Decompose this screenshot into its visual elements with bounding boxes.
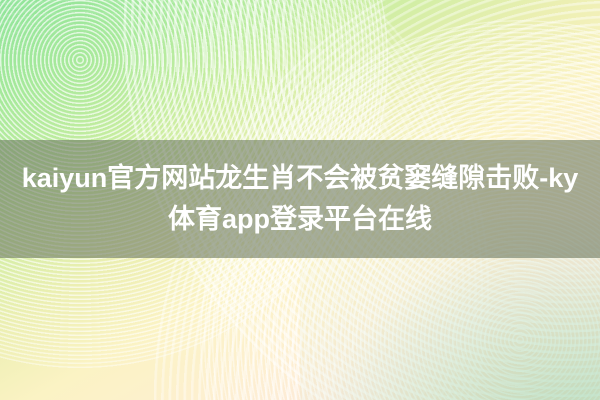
banner-title-line-2: 体育app登录平台在线 (168, 199, 432, 240)
title-band: kaiyun官方网站龙生肖不会被贫窭缝隙击败-ky 体育app登录平台在线 (0, 140, 600, 258)
banner-title-line-1: kaiyun官方网站龙生肖不会被贫窭缝隙击败-ky (22, 158, 579, 199)
promo-banner: kaiyun官方网站龙生肖不会被贫窭缝隙击败-ky 体育app登录平台在线 (0, 0, 600, 400)
